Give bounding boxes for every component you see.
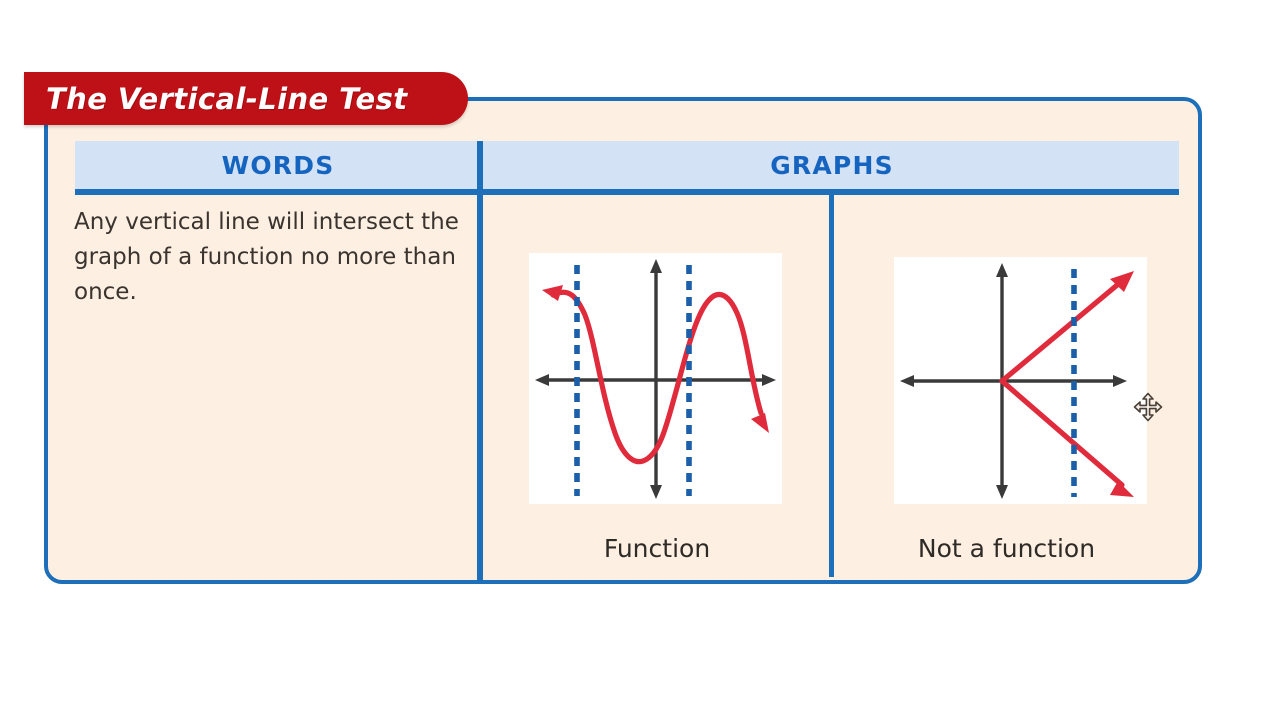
graph-function-plot — [529, 253, 782, 504]
move-cursor-icon — [1133, 392, 1163, 422]
column-header-words: WORDS — [75, 145, 481, 187]
table-header-underline — [75, 189, 1179, 195]
not-function-rays — [1002, 281, 1122, 485]
column-header-graphs: GRAPHS — [485, 145, 1179, 187]
graph-not-function-plot — [894, 257, 1147, 504]
graph-caption-not-function: Not a function — [834, 534, 1179, 563]
page-title: The Vertical-Line Test — [24, 82, 408, 116]
words-body-text: Any vertical line will intersect the gra… — [74, 205, 464, 310]
title-banner: The Vertical-Line Test — [24, 72, 468, 125]
column-divider-graph-panels — [829, 195, 834, 577]
vertical-line-test-card: WORDS GRAPHS Any vertical line will inte… — [44, 97, 1202, 584]
graph-caption-function: Function — [485, 534, 829, 563]
column-divider-words-graphs — [477, 141, 483, 583]
